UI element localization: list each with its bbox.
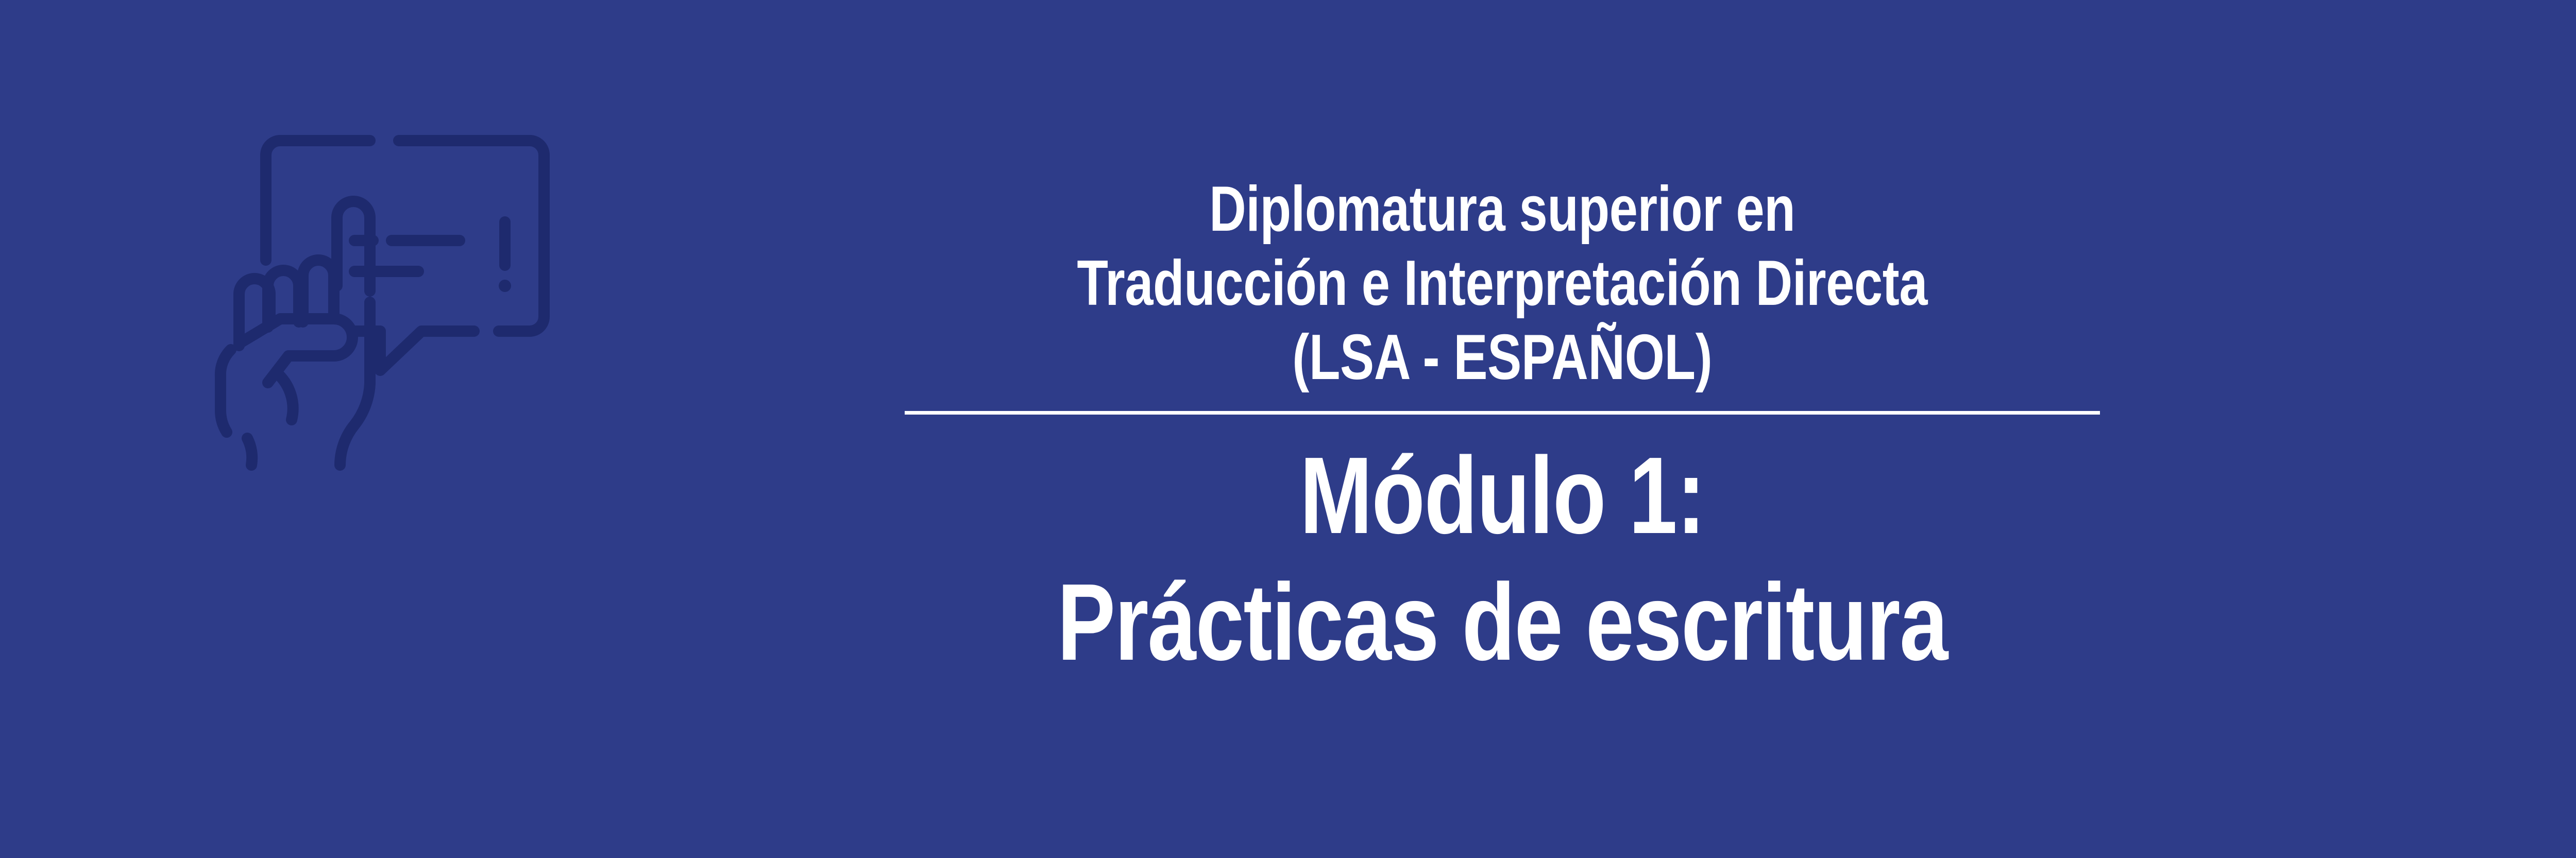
bubble-left-edge [266,141,280,260]
banner-text-column: Diplomatura superior en Traducción e Int… [889,0,2115,858]
module-title-line-1: Módulo 1: [1057,432,1947,559]
module-title-line-2: Prácticas de escritura [1057,559,1947,685]
icon-svg [190,111,591,471]
course-banner: Diplomatura superior en Traducción e Int… [0,0,2576,858]
thumb-crease [268,356,293,420]
index-finger [337,201,370,291]
palm-left-outline [221,350,231,432]
program-name-line-3: (LSA - ESPAÑOL) [1077,321,1928,395]
bubble-exclamation-dot [499,280,511,292]
module-title: Módulo 1: Prácticas de escritura [1057,432,1947,685]
program-name-line-1: Diplomatura superior en [1077,173,1928,247]
program-name: Diplomatura superior en Traducción e Int… [1077,173,1928,394]
hand-pointing-speech-bubble-icon [190,111,591,471]
program-name-line-2: Traducción e Interpretación Directa [1077,247,1928,321]
horizontal-divider [905,411,2100,415]
wrist-left [247,438,252,465]
middle-finger [303,260,334,322]
palm-upper [239,319,352,356]
